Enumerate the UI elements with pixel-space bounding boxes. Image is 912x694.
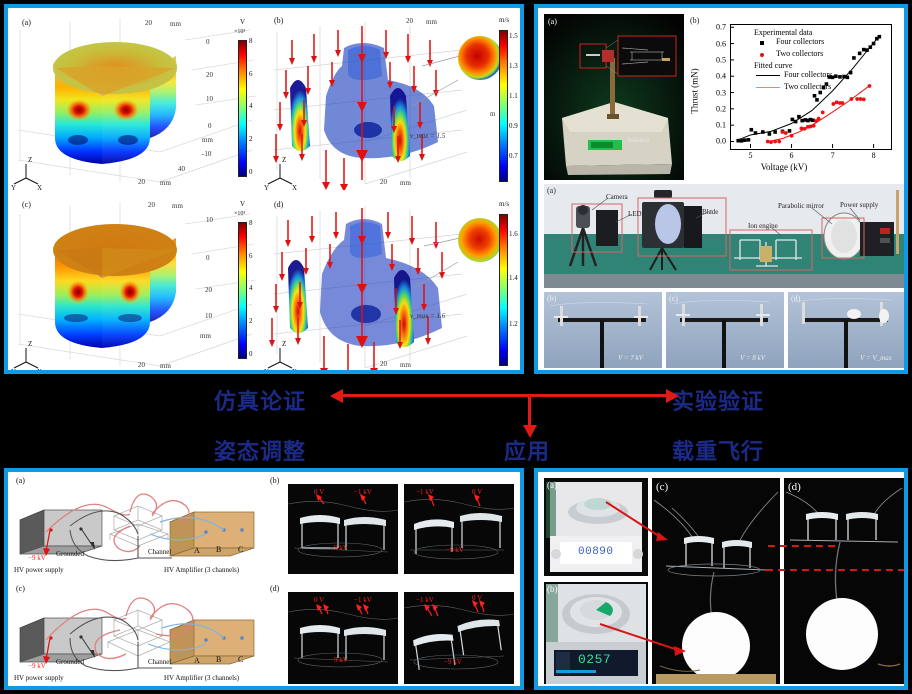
balance-photo-a: (a) 00890: [544, 478, 648, 576]
subfigure-c-potential: (c): [10, 194, 260, 374]
flow-arrowhead-left: [330, 389, 343, 403]
axis-tick: 20: [406, 17, 413, 25]
voltage-label-0v: 0 V: [472, 594, 482, 602]
subfigure-tag: (b): [547, 584, 558, 594]
svg-text:Y: Y: [11, 184, 16, 190]
subfigure-tag: (a): [22, 18, 31, 27]
flight-frame-c: (c) V = 8 kV: [666, 292, 784, 368]
label-hv-power-supply: HV power supply: [14, 566, 64, 574]
colorbar-tick: 2: [249, 317, 253, 325]
flow-label-attitude: 姿态调整: [214, 434, 306, 466]
axis-tick: 10: [205, 312, 212, 320]
chart-x-tick: 8: [872, 151, 876, 160]
colorbar-tick: 0.7: [509, 152, 518, 160]
label-channel-a: A: [194, 656, 200, 665]
attitude-photo-left: 0 V −1 kV −9 kV: [288, 484, 398, 574]
axis-unit: m: [490, 110, 495, 118]
axis-unit: mm: [160, 362, 171, 370]
subfigure-tag: (a): [16, 476, 25, 485]
subfigure-tag: (d): [788, 481, 801, 493]
label-power-supply: Power supply: [840, 201, 878, 209]
label-hv-amplifier: HV Amplifier (3 channels): [164, 566, 239, 574]
svg-text:Z: Z: [28, 340, 32, 348]
svg-text:X: X: [37, 368, 42, 374]
legend-marker-square: [760, 41, 764, 45]
chart-y-tick: 0.0: [706, 137, 726, 146]
subfigure-b-velocity: (b): [262, 10, 520, 190]
label-channel-b: B: [216, 655, 221, 664]
legend-label-fit-two: Two collectors: [784, 82, 831, 91]
panel-payload: (a) 00890 (b): [534, 468, 908, 690]
legend-label-fit-four: Four collectors: [784, 70, 832, 79]
colorbar-title: m/s: [499, 16, 509, 24]
colorbar-title: V: [240, 18, 245, 26]
axis-tick: 20: [380, 178, 387, 186]
label-grounded: Grounded: [56, 550, 84, 558]
chart-y-tick: 0.2: [706, 104, 726, 113]
axis-unit: mm: [400, 361, 411, 369]
axis-unit: mm: [172, 202, 183, 210]
colorbar-tick: 1.4: [509, 274, 518, 282]
label-channel-c: C: [238, 545, 243, 554]
voltage-label-minus9kv: −9 kV: [446, 546, 464, 554]
flow-arrow-horizontal: [343, 394, 666, 397]
subfigure-a-schematic: (a): [10, 474, 266, 578]
thrust-setup-photo: (a): [544, 14, 684, 180]
flow-label-simulation: 仿真论证: [214, 384, 306, 416]
axis-tick: 20: [138, 178, 145, 186]
balance-reading: 00890: [578, 546, 614, 558]
subfigure-tag: (d): [791, 294, 800, 303]
svg-text:Z: Z: [282, 156, 286, 164]
flow-arrowhead-down: [523, 425, 537, 438]
voltage-label-0v: 0 V: [314, 488, 324, 496]
chart-y-tick: 0.3: [706, 88, 726, 97]
axis-tick: 0: [206, 254, 210, 262]
attitude-photo-left: 0 V −1 kV −9 kV: [288, 592, 398, 684]
voltage-label-0v: 0 V: [314, 596, 324, 604]
colorbar-tick: 0: [249, 168, 253, 176]
panel-simulation: (a): [4, 4, 524, 374]
colorbar-tick: 2: [249, 135, 253, 143]
velocity-annotation: v_max = 1.6: [410, 312, 445, 320]
label-channel: Channel: [148, 658, 171, 666]
thrust-voltage-chart: (b) 56780.00.10.20.30.40.50.60.7 Voltage…: [688, 14, 904, 180]
svg-text:X: X: [292, 368, 297, 374]
voltage-label-0v: 0 V: [472, 488, 482, 496]
axis-tick: 20: [206, 71, 213, 79]
subfigure-a-potential: (a): [10, 10, 260, 190]
svg-text:Z: Z: [282, 340, 286, 348]
axis-tick: 20: [138, 361, 145, 369]
axis-tick: 40: [178, 165, 185, 173]
subfigure-b-photopair: (b) 0 V −1 kV: [268, 474, 518, 578]
axis-tick: 10: [206, 216, 213, 224]
chart-y-tick: 0.6: [706, 39, 726, 48]
subfigure-tag: (c): [669, 294, 678, 303]
voltage-label-minus1kv: −1 kV: [354, 488, 372, 496]
subfigure-tag: (a): [548, 17, 557, 26]
legend-header-experimental: Experimental data: [754, 28, 812, 37]
svg-text:Y: Y: [264, 184, 269, 190]
chart-x-tick: 5: [749, 151, 753, 160]
chart-y-tick: 0.4: [706, 72, 726, 81]
voltage-label-minus9kv: −9 kV: [330, 544, 348, 552]
flow-arrow-vertical: [528, 395, 531, 427]
flow-label-experiment: 实验验证: [672, 384, 764, 416]
axis-tick: 10: [206, 95, 213, 103]
frame-caption: V = 7 kV: [618, 354, 643, 362]
axis-unit: mm: [200, 332, 211, 340]
subfigure-tag: (c): [22, 200, 31, 209]
legend-line-four: [756, 75, 780, 76]
axis-tick: -10: [202, 150, 211, 158]
subfigure-d-velocity: (d): [262, 194, 520, 374]
chart-x-axis-title: Voltage (kV): [761, 162, 808, 172]
axis-tick: 0: [208, 122, 212, 130]
axis-unit: mm: [426, 18, 437, 26]
flow-arrowhead-right: [666, 389, 679, 403]
svg-text:Y: Y: [264, 368, 269, 374]
axis-unit: mm: [160, 179, 171, 187]
flow-diagram: 仿真论证 实验验证 姿态调整 应用 载重飞行: [0, 378, 912, 466]
colorbar-tick: 4: [249, 284, 253, 292]
label-channel-c: C: [238, 655, 243, 664]
legend-label-four: Four collectors: [776, 37, 824, 46]
svg-text:X: X: [37, 184, 42, 190]
colorbar-tick: 1.1: [509, 92, 518, 100]
axis-tick: 20: [205, 286, 212, 294]
label-hv-amplifier: HV Amplifier (3 channels): [164, 674, 239, 682]
colorbar-tick: 6: [249, 70, 253, 78]
flow-label-application: 应用: [504, 434, 550, 466]
attitude-photo-right: −1 kV 0 V −9 kV: [404, 484, 514, 574]
subfigure-tag: (b): [690, 16, 699, 25]
label-ion-engine: Ion engine: [748, 222, 778, 230]
subfigure-tag: (b): [270, 476, 279, 485]
panel-experiment: (a): [534, 4, 908, 374]
balance-label: balance: [628, 136, 649, 144]
subfigure-c-schematic: (c): [10, 582, 266, 686]
colorbar-tick: 1.6: [509, 230, 518, 238]
subfigure-tag: (c): [16, 584, 25, 593]
axis-tick: 20: [148, 201, 155, 209]
flight-frame-b: (b) V = 7 kV: [544, 292, 662, 368]
panel-attitude: (a): [4, 468, 524, 690]
voltage-label-minus1kv: −1 kV: [354, 596, 372, 604]
colorbar-b: [499, 30, 508, 182]
flow-label-payload: 载重飞行: [672, 434, 764, 466]
axis-unit: mm: [400, 179, 411, 187]
chart-x-tick: 6: [790, 151, 794, 160]
colorbar-tick: 4: [249, 102, 253, 110]
chart-y-tick: 0.5: [706, 55, 726, 64]
subfigure-tag: (a): [547, 186, 556, 195]
label-channel-a: A: [194, 546, 200, 555]
figure-root: (a): [0, 0, 912, 694]
colorbar-tick: 6: [249, 252, 253, 260]
colorbar-title: m/s: [499, 200, 509, 208]
axis-tick: 20: [380, 360, 387, 368]
colorbar-tick: 1.5: [509, 32, 518, 40]
colorbar-exponent: ×10³: [234, 29, 245, 35]
chart-y-tick: 0.1: [706, 121, 726, 130]
axis-tick-x: 20: [145, 19, 152, 27]
subfigure-d-photopair: (d): [268, 582, 518, 686]
legend-header-fitted: Fitted curve: [754, 61, 792, 70]
label-minus9kv: −9 kV: [28, 662, 46, 670]
axis-unit: mm: [202, 136, 213, 144]
colorbar-d: [499, 214, 508, 366]
colorbar-tick: 0.9: [509, 122, 518, 130]
svg-text:Y: Y: [11, 368, 16, 374]
label-channel-b: B: [216, 545, 221, 554]
label-hv-power-supply: HV power supply: [14, 674, 64, 682]
chart-y-tick: 0.7: [706, 23, 726, 32]
chart-x-tick: 7: [831, 151, 835, 160]
colorbar-exponent: ×10³: [234, 211, 245, 217]
flight-frame-d: (d) V = V_max: [788, 292, 904, 368]
velocity-annotation: v_max = 1.5: [410, 132, 445, 140]
colorbar-a: [238, 40, 247, 177]
frame-caption: V = V_max: [860, 354, 892, 362]
svg-text:X: X: [292, 184, 297, 190]
colorbar-tick: 8: [249, 219, 253, 227]
axis-unit: mm: [170, 20, 181, 28]
label-camera: Camera: [606, 193, 628, 201]
axis-tick: 0: [206, 38, 210, 46]
label-channel: Channel: [148, 548, 171, 556]
colorbar-c: [238, 222, 247, 359]
payload-flight-photo-c: (c): [652, 478, 780, 684]
label-grounded: Grounded: [56, 658, 84, 666]
subfigure-tag: (a): [547, 480, 557, 490]
colorbar-tick: 0: [249, 350, 253, 358]
label-parabolic-mirror: Parabolic mirror: [778, 202, 824, 210]
colorbar-tick: 1.2: [509, 320, 518, 328]
colorbar-tick: 8: [249, 37, 253, 45]
colorbar-title: V: [240, 200, 245, 208]
lab-bench-photo: (a): [544, 184, 904, 288]
colorbar-tick: 1.3: [509, 62, 518, 70]
label-led: LED: [628, 210, 642, 218]
label-minus9kv: −9 kV: [28, 554, 46, 562]
subfigure-tag: (d): [274, 200, 283, 209]
subfigure-tag: (b): [274, 16, 283, 25]
balance-reading: 0257: [578, 652, 611, 667]
label-blade: Blade: [702, 208, 718, 216]
balance-photo-b: (b) 0257: [544, 582, 648, 684]
voltage-label-minus9kv: −9 kV: [330, 656, 348, 664]
attitude-photo-right: −1 kV 0 V −9 kV: [404, 592, 514, 684]
voltage-label-minus9kv: −9 kV: [444, 658, 462, 666]
payload-flight-photo-d: (d): [784, 478, 904, 684]
legend-label-two: Two collectors: [776, 49, 823, 58]
subfigure-tag: (d): [270, 584, 279, 593]
subfigure-tag: (b): [547, 294, 556, 303]
legend-line-two: [756, 87, 780, 88]
frame-caption: V = 8 kV: [740, 354, 765, 362]
chart-y-axis-title: Thrust (mN): [690, 68, 700, 113]
subfigure-tag: (c): [656, 481, 668, 493]
svg-text:Z: Z: [28, 156, 32, 164]
voltage-label-minus1kv: −1 kV: [416, 488, 434, 496]
legend-marker-circle: [760, 53, 764, 57]
voltage-label-minus1kv: −1 kV: [416, 596, 434, 604]
